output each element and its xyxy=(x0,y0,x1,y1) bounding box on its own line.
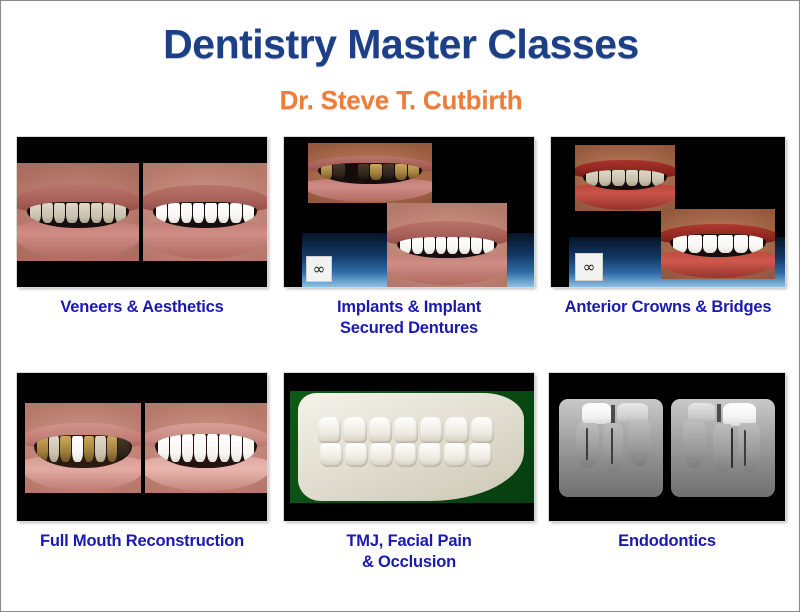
thumbnail-implants[interactable]: ∞ xyxy=(284,137,534,287)
photo-full-mouth-before xyxy=(25,403,141,493)
infinity-icon: ∞ xyxy=(583,260,596,275)
letterbox-bar-top xyxy=(284,373,534,391)
caption-veneers: Veneers & Aesthetics xyxy=(17,297,267,318)
cast-upper-arch xyxy=(318,417,494,443)
photo-full-mouth-after xyxy=(145,403,267,493)
caption-implants: Implants & Implant Secured Dentures xyxy=(284,297,534,338)
photo-crowns-before xyxy=(575,145,675,211)
thumbnail-anterior-crowns[interactable]: ∞ xyxy=(551,137,785,287)
thumbnail-tmj[interactable] xyxy=(284,373,534,521)
letterbox-bar-bottom xyxy=(284,503,534,521)
presenter-name: Dr. Steve T. Cutbirth xyxy=(1,85,800,116)
page-title: Dentistry Master Classes xyxy=(1,21,800,68)
photo-implants-after xyxy=(387,203,507,287)
photo-implants-before xyxy=(308,143,432,203)
cast-lower-arch xyxy=(320,443,492,467)
thumbnail-veneers[interactable] xyxy=(17,137,267,287)
photo-crowns-after xyxy=(661,209,775,279)
caption-anterior-crowns: Anterior Crowns & Bridges xyxy=(551,297,785,318)
practice-logo-watermark: ∞ xyxy=(575,253,603,281)
caption-endodontics: Endodontics xyxy=(549,531,785,552)
caption-full-mouth: Full Mouth Reconstruction xyxy=(17,531,267,552)
caption-tmj: TMJ, Facial Pain & Occlusion xyxy=(284,531,534,572)
infinity-icon: ∞ xyxy=(313,262,326,277)
photo-veneers-after xyxy=(143,163,267,261)
radiograph-right xyxy=(671,399,775,497)
photo-veneers-before xyxy=(17,163,139,261)
thumbnail-full-mouth[interactable] xyxy=(17,373,267,521)
slide-canvas: Dentistry Master Classes Dr. Steve T. Cu… xyxy=(0,0,800,612)
radiograph-left xyxy=(559,399,663,497)
thumbnail-endodontics[interactable] xyxy=(549,373,785,521)
practice-logo-watermark: ∞ xyxy=(306,256,332,282)
